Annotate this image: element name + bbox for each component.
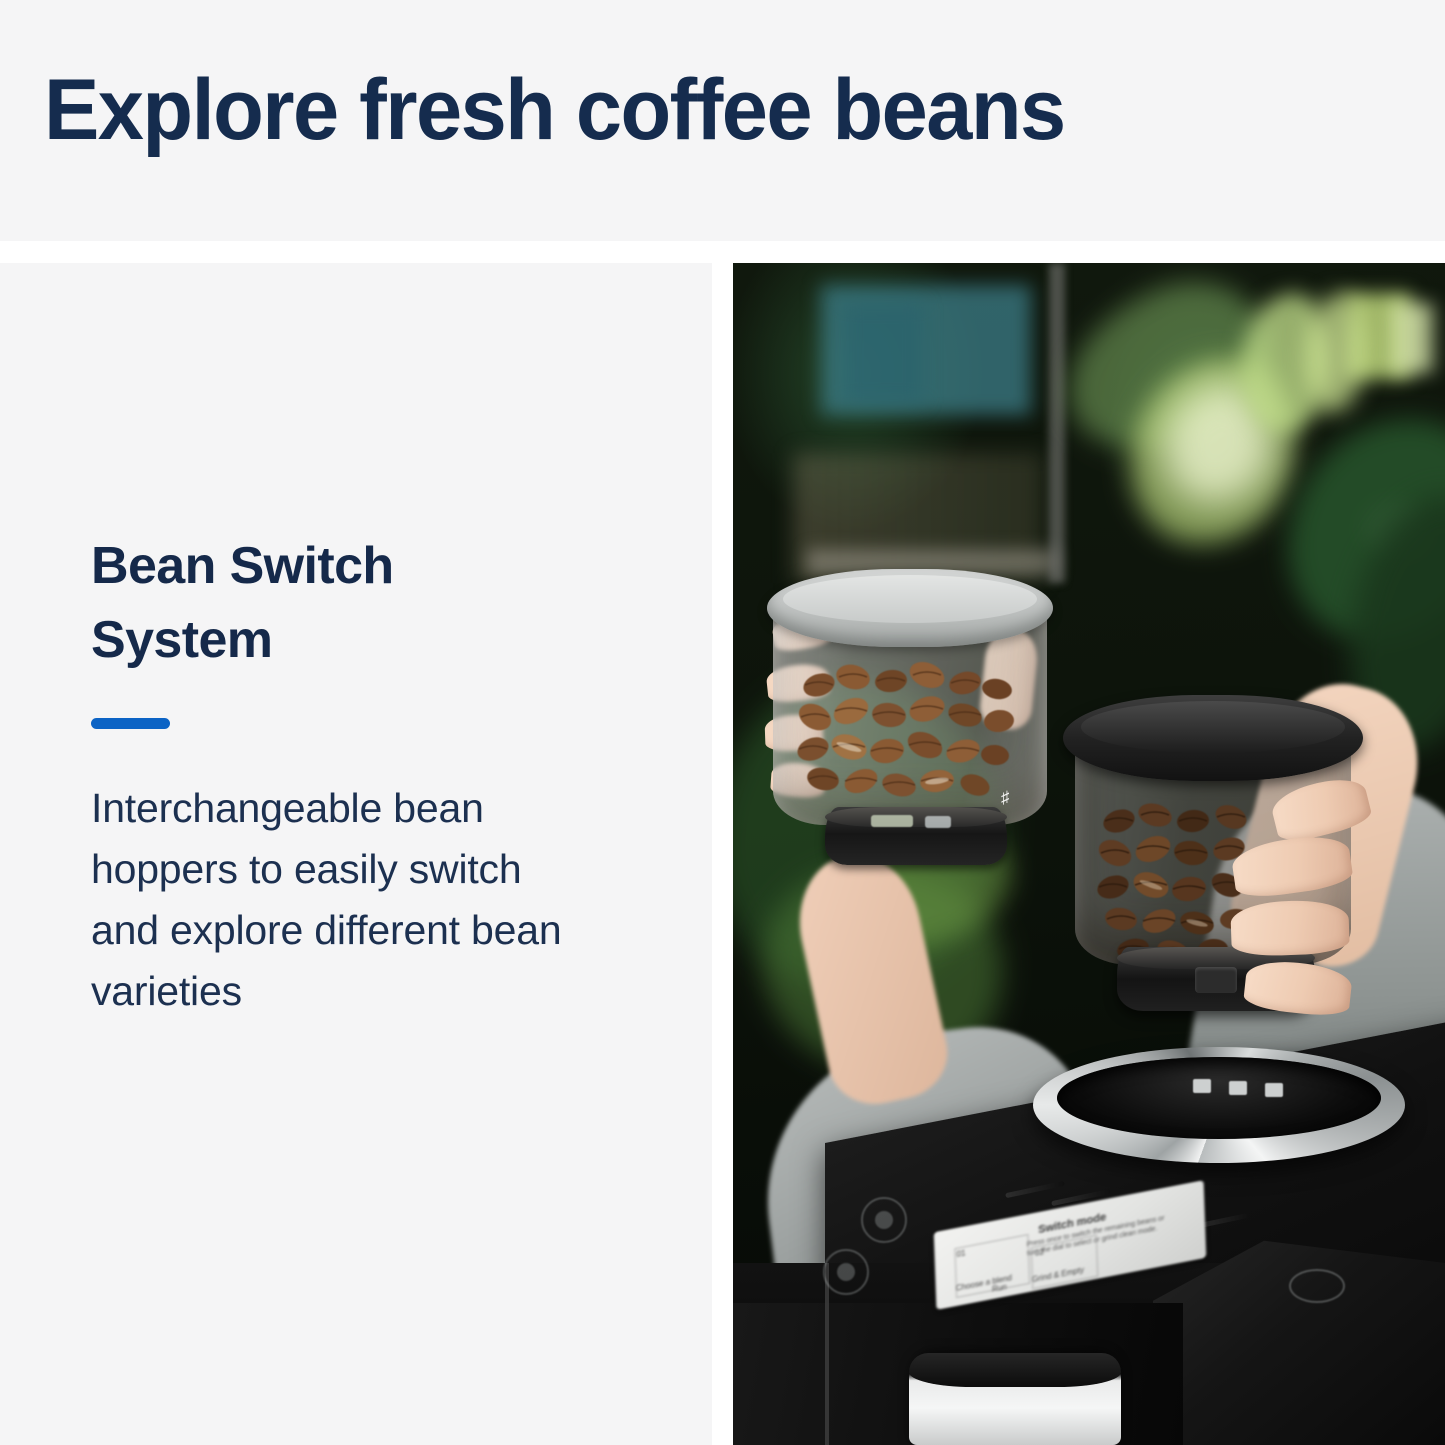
feature-description: Interchangeable bean hoppers to easily s… — [91, 778, 591, 1022]
feature-title: Bean Switch System — [91, 529, 611, 677]
finger — [1230, 899, 1350, 957]
feature-text-panel: Bean Switch System Interchangeable bean … — [0, 263, 712, 1445]
hopper-socket-icon — [1193, 1079, 1211, 1093]
coffee-spout — [909, 1353, 1121, 1445]
window-frame — [1049, 263, 1065, 583]
header-band: Explore fresh coffee beans — [0, 0, 1445, 241]
bean-hopper-left: ♯ — [767, 569, 1057, 869]
coffee-touch-icon[interactable] — [823, 1249, 869, 1295]
coffee-beans-icon — [795, 659, 1025, 809]
hopper-base-ring — [825, 807, 1007, 865]
product-photo: ♯ — [733, 263, 1445, 1445]
power-touch-icon[interactable] — [861, 1197, 907, 1243]
hopper-lid[interactable] — [767, 569, 1053, 647]
hopper-lid[interactable] — [1063, 695, 1363, 781]
hopper-base-latch[interactable] — [1195, 967, 1237, 993]
coffee-spout-cap — [909, 1353, 1121, 1387]
hopper-base-contact — [925, 816, 951, 828]
machine-panel-seam — [825, 1263, 829, 1445]
hopper-chrome-ring — [1033, 1047, 1405, 1163]
sticker-step-2: 02 — [1035, 1247, 1044, 1258]
hopper-socket — [1057, 1057, 1381, 1139]
page-title: Explore fresh coffee beans — [44, 62, 1327, 158]
product-feature-panel: Explore fresh coffee beans Bean Switch S… — [0, 0, 1445, 1445]
hopper-socket-icon — [1229, 1081, 1247, 1095]
sticker-step-1: 01 — [956, 1248, 965, 1259]
sticker-foot-label: Run — [992, 1282, 1007, 1294]
hopper-socket-icon — [1265, 1083, 1283, 1097]
window-pane-icon — [843, 303, 923, 403]
hopper-lid-top — [783, 575, 1037, 623]
hopper-lid-top — [1081, 701, 1345, 753]
cup-indicator-icon — [1289, 1269, 1345, 1303]
hopper-base-contact — [871, 815, 913, 827]
hopper-brand-mark: ♯ — [1001, 789, 1017, 811]
window-pane-icon — [1393, 303, 1433, 373]
feature-copy-block: Bean Switch System Interchangeable bean … — [91, 529, 611, 1022]
accent-divider — [91, 718, 170, 729]
hopper-base-rim — [825, 807, 1007, 827]
